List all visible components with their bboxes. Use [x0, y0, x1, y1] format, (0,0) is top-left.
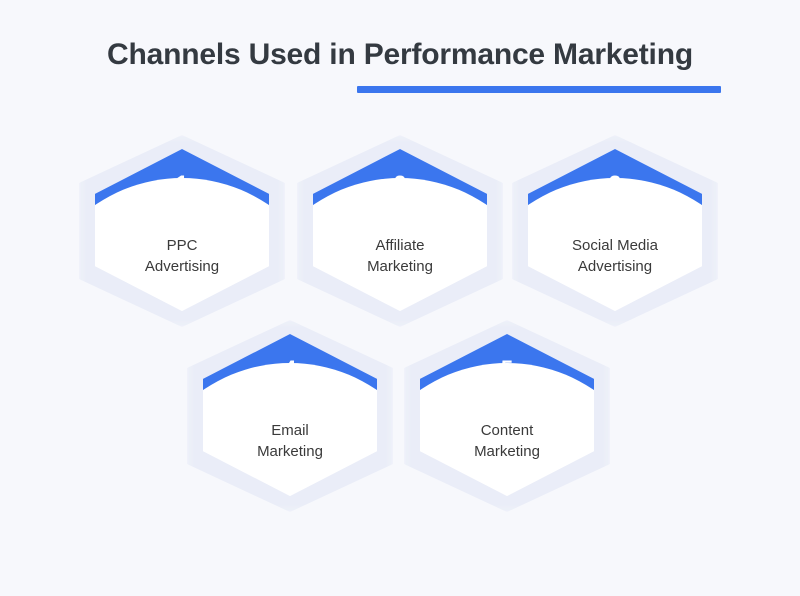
hexagon-step-number: 2 [313, 172, 487, 196]
hexagon-step-number: 1 [95, 172, 269, 196]
hexagon-grid: 1PPC Advertising2Affiliate Marketing3Soc… [0, 0, 800, 596]
hexagon-step-number: 3 [528, 172, 702, 196]
hexagon-label: Social Media Advertising [532, 235, 698, 277]
hexagon-step-number: 4 [203, 357, 377, 381]
hexagon-label: Email Marketing [207, 420, 373, 462]
hexagon-step-number: 5 [420, 357, 594, 381]
hexagon-label: Affiliate Marketing [317, 235, 483, 277]
hexagon-item-4[interactable]: 4Email Marketing [203, 334, 377, 496]
hexagon-item-2[interactable]: 2Affiliate Marketing [313, 149, 487, 311]
hexagon-item-3[interactable]: 3Social Media Advertising [528, 149, 702, 311]
hexagon-label: Content Marketing [424, 420, 590, 462]
hexagon-item-5[interactable]: 5Content Marketing [420, 334, 594, 496]
hexagon-item-1[interactable]: 1PPC Advertising [95, 149, 269, 311]
hexagon-label: PPC Advertising [99, 235, 265, 277]
